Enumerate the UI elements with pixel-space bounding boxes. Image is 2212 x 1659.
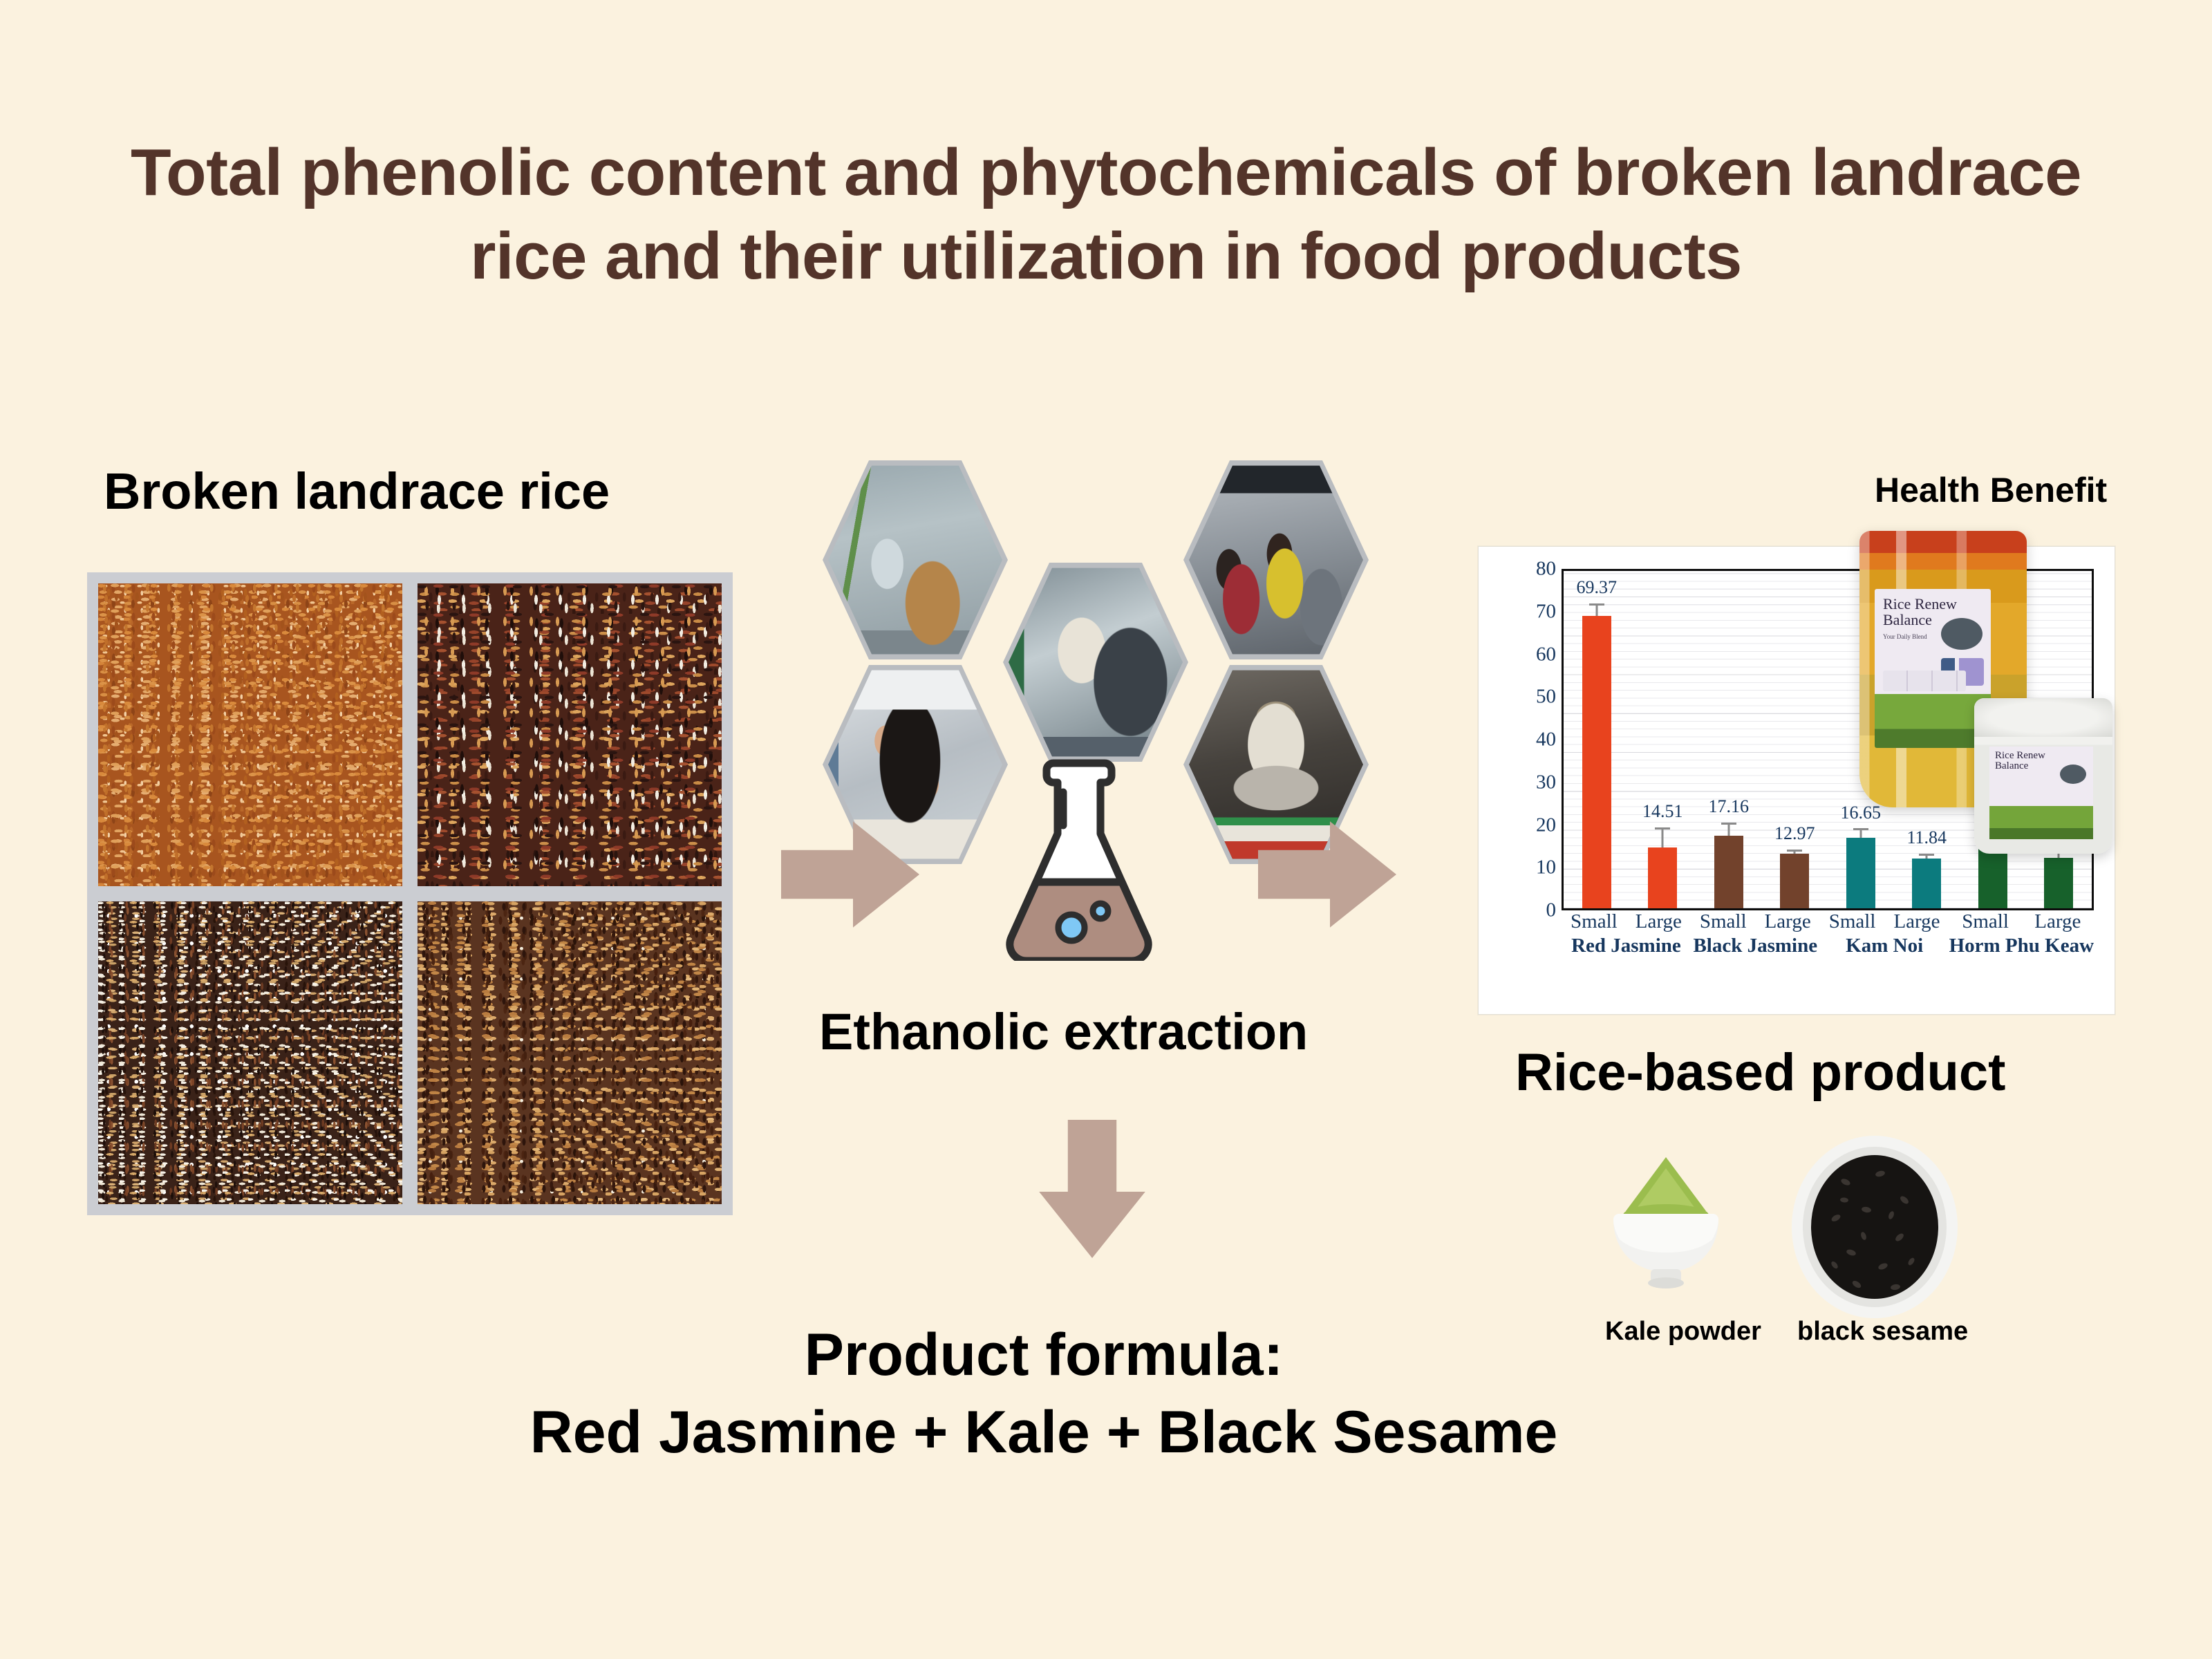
chart-x-size-label: Large xyxy=(2034,910,2081,933)
jar-label: Rice RenewBalance xyxy=(1989,747,2093,839)
hex-photo-pipetting xyxy=(823,661,1008,868)
chart-data-label: 17.16 xyxy=(1708,796,1749,817)
chart-x-size-row: SmallLarge xyxy=(1562,910,1691,933)
chart-data-label: 69.37 xyxy=(1576,577,1617,598)
chart-x-size-row: SmallLarge xyxy=(1691,910,1820,933)
chart-x-variety-label: Kam Noi xyxy=(1846,935,1923,957)
chart-x-size-label: Small xyxy=(1700,910,1747,933)
chart-x-variety-label: Black Jasmine xyxy=(1693,935,1817,957)
black-sesame-bowl-icon xyxy=(1790,1134,1960,1320)
rice-sample-red-jasmine xyxy=(98,583,402,886)
broken-landrace-rice-heading: Broken landrace rice xyxy=(104,462,610,521)
chart-data-label: 11.84 xyxy=(1906,827,1947,848)
page-title: Total phenolic content and phytochemical… xyxy=(124,131,2088,299)
chart-bar-group: 17.1612.97 xyxy=(1696,571,1828,908)
jar-brand-line1: Rice Renew xyxy=(1995,750,2045,761)
hex-photo-rotary-evaporator xyxy=(823,456,1008,664)
rice-sample-horm-phu-keaw xyxy=(418,901,722,1204)
chart-x-axis-labels: SmallLargeRed JasmineSmallLargeBlack Jas… xyxy=(1562,910,2094,968)
chart-bar-group: 69.3714.51 xyxy=(1564,571,1696,908)
black-sesame-label: black sesame xyxy=(1797,1317,1956,1347)
rice-sample-kam-noi xyxy=(98,901,402,1204)
chart-y-tick: 50 xyxy=(1513,686,1556,709)
pouch-icon-row xyxy=(1883,671,1966,691)
chart-y-tick: 30 xyxy=(1513,771,1556,794)
ethanolic-extraction-label: Ethanolic extraction xyxy=(819,1002,1308,1061)
chart-bar xyxy=(1912,859,1941,908)
chart-bar-column: 69.37 xyxy=(1582,571,1611,908)
chart-error-cap-top xyxy=(1721,823,1736,825)
pouch-label: Rice RenewBalance Your Daily Blend xyxy=(1875,589,1991,748)
chart-x-size-label: Large xyxy=(1893,910,1940,933)
jar-brand-line2: Balance xyxy=(1995,760,2028,771)
formula-line-1: Product formula: xyxy=(387,1317,1700,1394)
chart-x-size-label: Small xyxy=(1962,910,2009,933)
chart-x-size-label: Large xyxy=(1635,910,1682,933)
pouch-bowl-graphic xyxy=(1941,618,1983,650)
chart-bar xyxy=(1648,847,1677,909)
pouch-brand-line2: Balance xyxy=(1883,611,1932,628)
chart-x-size-label: Large xyxy=(1765,910,1811,933)
chart-data-label: 12.97 xyxy=(1774,823,1815,844)
chart-x-group: SmallLargeKam Noi xyxy=(1820,910,1949,968)
chart-x-group: SmallLargeRed Jasmine xyxy=(1562,910,1691,968)
chart-x-size-row: SmallLarge xyxy=(1820,910,1949,933)
kale-powder-bowl-icon xyxy=(1583,1147,1749,1300)
arrow-down-icon-to-formula xyxy=(1037,1120,1147,1258)
chart-bar xyxy=(1780,854,1809,908)
jar-bowl-graphic xyxy=(2060,765,2086,784)
chart-x-variety-label: Red Jasmine xyxy=(1571,935,1681,957)
jar-lid xyxy=(1974,698,2112,737)
chart-bar-column: 12.97 xyxy=(1780,571,1809,908)
chart-x-size-row: SmallLarge xyxy=(1949,910,2094,933)
chart-bar xyxy=(1582,616,1611,908)
health-benefit-heading: Health Benefit xyxy=(1875,470,2107,510)
chart-x-size-label: Small xyxy=(1829,910,1876,933)
chart-error-cap-top xyxy=(1787,850,1802,852)
chart-data-label: 16.65 xyxy=(1840,803,1881,823)
erlenmeyer-flask-icon xyxy=(1000,753,1159,961)
pouch-brand-line1: Rice Renew xyxy=(1883,595,1957,612)
chart-x-group: SmallLargeBlack Jasmine xyxy=(1691,910,1820,968)
chart-y-tick: 20 xyxy=(1513,814,1556,836)
chart-error-cap-top xyxy=(1589,603,1604,606)
chart-bar xyxy=(1714,836,1743,908)
chart-y-tick: 70 xyxy=(1513,600,1556,623)
chart-y-axis-ticks: 01020304050607080 xyxy=(1509,569,1556,910)
rice-based-product-heading: Rice-based product xyxy=(1515,1042,2005,1103)
chart-error-cap-top xyxy=(1655,827,1670,829)
chart-x-variety-label: Horm Phu Keaw xyxy=(1949,935,2094,957)
chart-y-tick: 60 xyxy=(1513,643,1556,666)
chart-data-label: 14.51 xyxy=(1642,801,1683,822)
graphical-abstract: Total phenolic content and phytochemical… xyxy=(0,0,2212,1659)
chart-bar xyxy=(2044,858,2073,908)
chart-x-group: SmallLargeHorm Phu Keaw xyxy=(1949,910,2094,968)
chart-y-tick: 80 xyxy=(1513,558,1556,581)
chart-y-tick: 10 xyxy=(1513,856,1556,879)
hex-photo-laboratory-work xyxy=(1003,559,1188,766)
chart-bar-column: 14.51 xyxy=(1648,571,1677,908)
chart-bar-column: 17.16 xyxy=(1714,571,1743,908)
chart-error-cap-top xyxy=(1919,854,1934,856)
rice-renew-balance-jar: Rice RenewBalance xyxy=(1974,698,2112,854)
hex-photo-office-analysis xyxy=(1183,456,1369,664)
chart-y-tick: 40 xyxy=(1513,729,1556,751)
product-formula-text: Product formula: Red Jasmine + Kale + Bl… xyxy=(387,1317,1700,1472)
chart-bar xyxy=(1846,838,1875,908)
rice-sample-grid xyxy=(87,572,733,1215)
chart-y-tick: 0 xyxy=(1513,899,1556,922)
chart-x-size-label: Small xyxy=(1571,910,1618,933)
rice-sample-black-jasmine xyxy=(418,583,722,886)
chart-error-cap-top xyxy=(1853,828,1868,830)
formula-line-2: Red Jasmine + Kale + Black Sesame xyxy=(387,1394,1700,1472)
